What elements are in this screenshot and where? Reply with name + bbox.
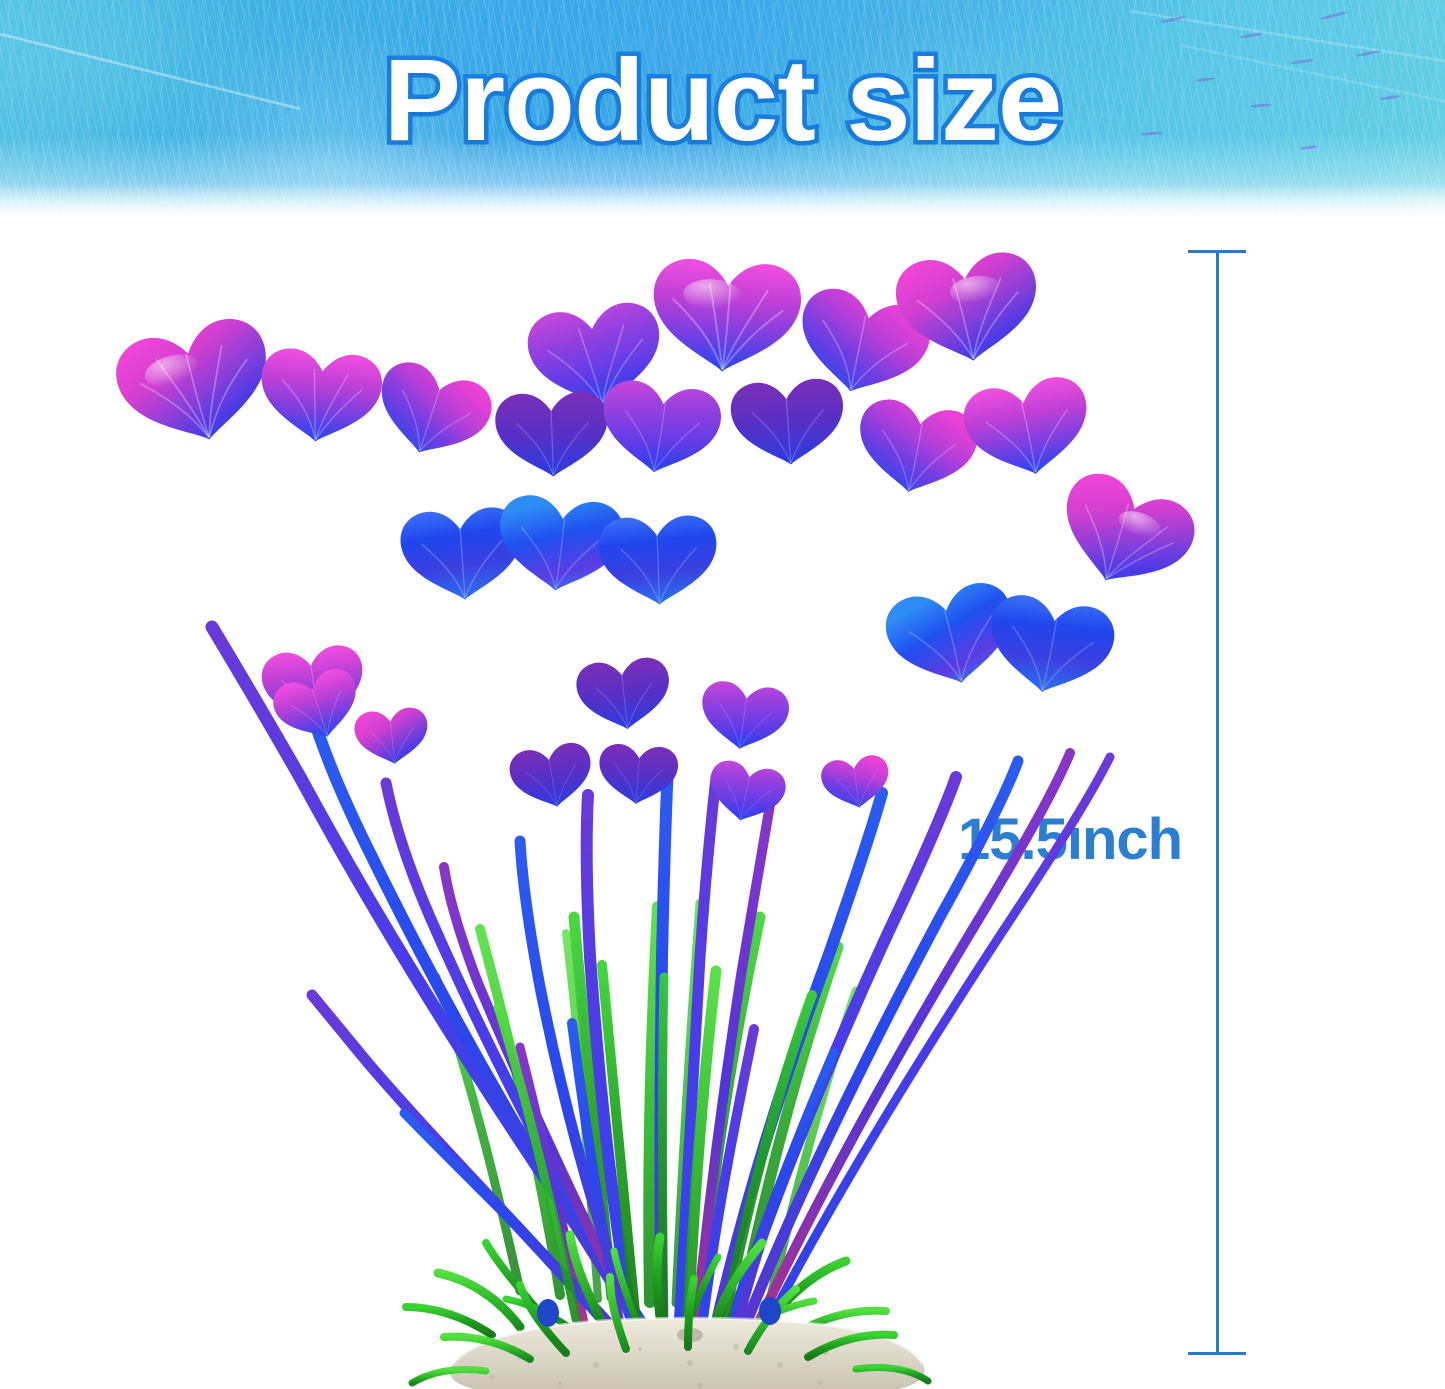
product-size-banner: Product size [0,0,1445,217]
banner-bottom-fade [0,183,1445,217]
page-title: Product size [0,42,1445,158]
aquarium-plant-product-image [0,217,1445,1389]
